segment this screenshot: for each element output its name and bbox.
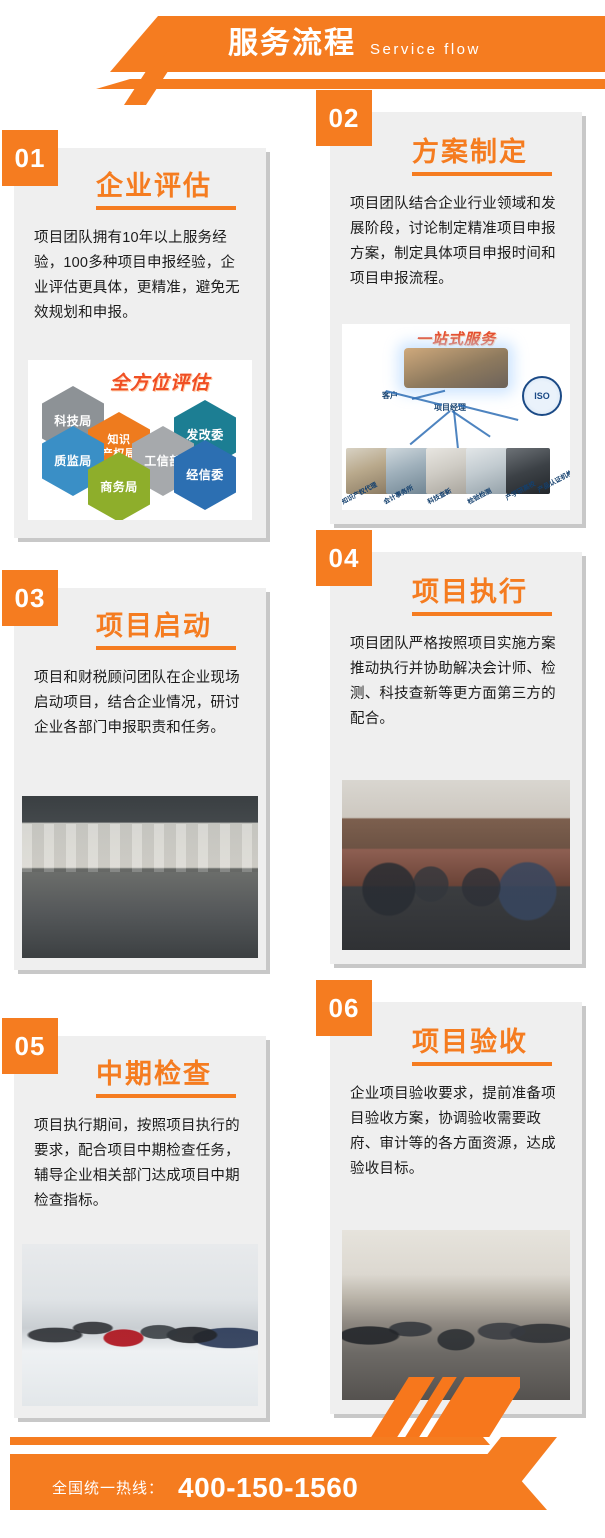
step-title-rule-06	[412, 1062, 552, 1066]
step-body-01: 项目团队拥有10年以上服务经验，100多种项目申报经验，企业评估更具体，更精准，…	[34, 226, 248, 326]
step-title-rule-01	[96, 206, 236, 210]
step-card-06[interactable]: 06 项目验收 企业项目验收要求，提前准备项目验收方案，协调验收需要政府、审计等…	[330, 1002, 582, 1414]
oss-certification-seal: ISO	[522, 376, 562, 416]
hex-diagram: 全方位评估 科技局 知识 产权局 发改委 质监局 工信部 商务局 经信委	[28, 360, 252, 520]
step-card-02[interactable]: 02 方案制定 项目团队结合企业行业领域和发展阶段，讨论制定精准项目申报方案，制…	[330, 112, 582, 524]
step-title-03: 项目启动	[96, 604, 212, 643]
step-card-03[interactable]: 03 项目启动 项目和财税顾问团队在企业现场启动项目，结合企业情况，研讨企业各部…	[14, 588, 266, 970]
step-title-rule-05	[96, 1094, 236, 1098]
header-stripe	[130, 79, 605, 89]
footer-diagonal-accent	[300, 1377, 520, 1437]
step-title-rule-04	[412, 612, 552, 616]
hex-diagram-title: 全方位评估	[110, 368, 210, 395]
step-title-rule-03	[96, 646, 236, 650]
step-badge-06: 06	[316, 980, 372, 1036]
step-badge-05: 05	[2, 1018, 58, 1074]
oss-hub-photo	[404, 348, 508, 388]
step-card-04[interactable]: 04 项目执行 项目团队严格按照项目实施方案推动执行并协助解决会计师、检测、科技…	[330, 552, 582, 964]
step-badge-03: 03	[2, 570, 58, 626]
infographic-page: 服务流程 Service flow 01 企业评估 项目团队拥有10年以上服务经…	[0, 0, 605, 1538]
step-photo-04	[342, 780, 570, 950]
page-subtitle: Service flow	[370, 34, 481, 66]
step-photo-05	[22, 1244, 258, 1406]
step-badge-04: 04	[316, 530, 372, 586]
step-photo-03	[22, 796, 258, 958]
page-title: 服务流程	[228, 22, 356, 66]
step-body-03: 项目和财税顾问团队在企业现场启动项目，结合企业情况，研讨企业各部门申报职责和任务…	[34, 666, 248, 741]
step-title-05: 中期检查	[96, 1052, 212, 1091]
hotline-number[interactable]: 400-150-1560	[178, 1472, 358, 1504]
step-title-rule-02	[412, 172, 552, 176]
step-body-05: 项目执行期间，按照项目执行的要求，配合项目中期检查任务，辅导企业相关部门达成项目…	[34, 1114, 248, 1214]
oss-title: 一站式服务	[416, 328, 496, 349]
step-body-04: 项目团队严格按照项目实施方案推动执行并协助解决会计师、检测、科技查新等更方面第三…	[350, 632, 564, 732]
step-body-06: 企业项目验收要求，提前准备项目验收方案，协调验收需要政府、审计等的各方面资源，达…	[350, 1082, 564, 1182]
page-footer: 全国统一热线： 400-150-1560	[0, 1423, 605, 1538]
hotline-label: 全国统一热线：	[52, 1477, 164, 1498]
step-title-02: 方案制定	[412, 130, 528, 169]
step-badge-01: 01	[2, 130, 58, 186]
step-badge-02: 02	[316, 90, 372, 146]
page-header: 服务流程 Service flow	[0, 0, 605, 105]
step-body-02: 项目团队结合企业行业领域和发展阶段，讨论制定精准项目申报方案，制定具体项目申报时…	[350, 192, 564, 292]
step-card-01[interactable]: 01 企业评估 项目团队拥有10年以上服务经验，100多种项目申报经验，企业评估…	[14, 148, 266, 538]
step-title-04: 项目执行	[412, 570, 528, 609]
one-stop-service-diagram: 一站式服务 客户 项目经理 ISO 知识产权代理 会计事务所 科技查新 检验检测…	[342, 324, 570, 510]
step-card-05[interactable]: 05 中期检查 项目执行期间，按照项目执行的要求，配合项目中期检查任务，辅导企业…	[14, 1036, 266, 1418]
step-title-06: 项目验收	[412, 1020, 528, 1059]
step-photo-06	[342, 1230, 570, 1400]
oss-arrow-3	[410, 410, 451, 445]
step-title-01: 企业评估	[96, 164, 212, 203]
oss-arrow-5	[458, 404, 519, 421]
